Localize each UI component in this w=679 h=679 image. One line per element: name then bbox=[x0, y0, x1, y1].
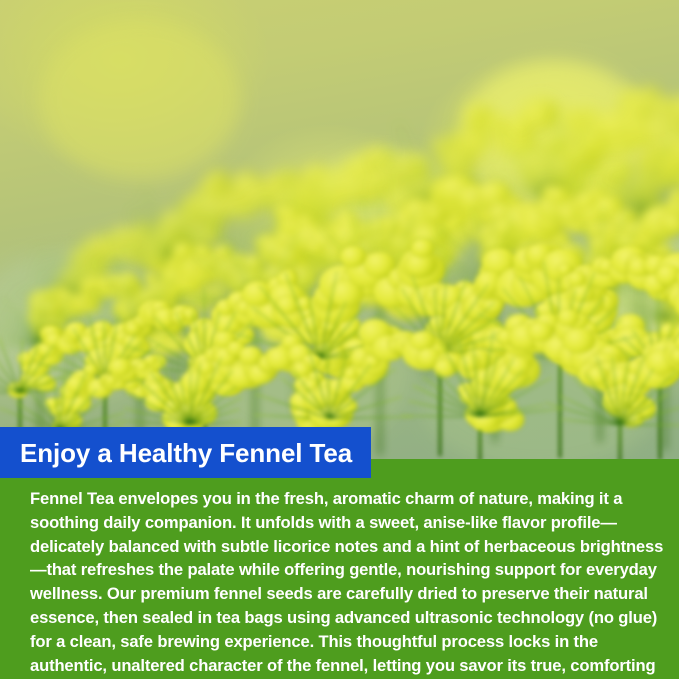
fennel-photo bbox=[0, 0, 679, 462]
page-title: Enjoy a Healthy Fennel Tea bbox=[0, 440, 352, 466]
umbel-floret bbox=[670, 189, 679, 201]
umbel-floret bbox=[528, 322, 553, 342]
umbel-floret bbox=[183, 308, 197, 319]
umbel-floret bbox=[563, 328, 595, 353]
product-infographic-card: Enjoy a Healthy Fennel Tea Fennel Tea en… bbox=[0, 0, 679, 679]
umbel-floret bbox=[368, 148, 393, 168]
fennel-umbel bbox=[550, 424, 679, 462]
umbel-floret bbox=[126, 323, 139, 334]
umbel-floret bbox=[465, 110, 481, 123]
umbel-floret bbox=[411, 239, 434, 257]
umbel-floret bbox=[136, 362, 147, 371]
umbel-floret bbox=[448, 133, 465, 146]
umbel-floret bbox=[624, 102, 647, 120]
fennel-umbel bbox=[400, 416, 560, 462]
umbel-floret bbox=[547, 187, 568, 204]
umbel-floret bbox=[568, 272, 586, 286]
description-panel-step bbox=[0, 478, 372, 484]
title-banner: Enjoy a Healthy Fennel Tea bbox=[0, 427, 371, 478]
umbel-floret bbox=[283, 208, 298, 220]
umbel-floret bbox=[206, 178, 221, 190]
umbel-floret bbox=[558, 309, 579, 326]
bokeh-blob bbox=[40, 20, 240, 180]
umbel-floret bbox=[434, 359, 456, 377]
umbel-floret bbox=[528, 109, 550, 127]
umbel-floret bbox=[144, 273, 157, 284]
umbel-floret bbox=[266, 173, 285, 188]
umbel-stem bbox=[619, 424, 622, 462]
description-paragraph: Fennel Tea envelopes you in the fresh, a… bbox=[30, 487, 666, 679]
